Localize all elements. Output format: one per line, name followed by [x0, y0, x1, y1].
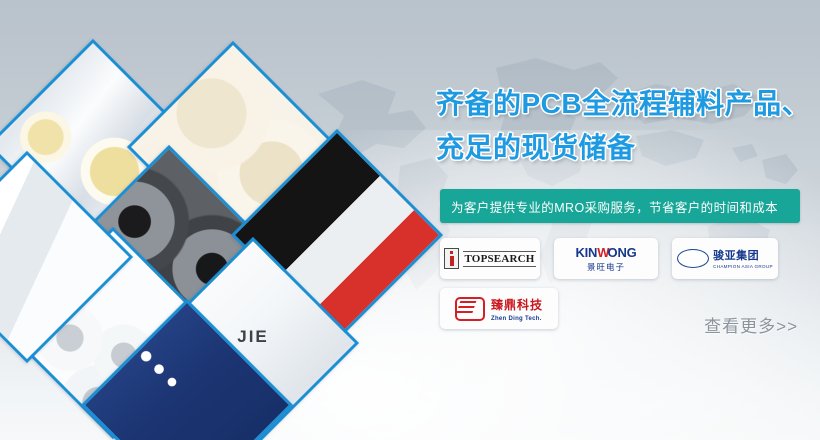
champion-asia-chinese-name: 骏亚集团 [713, 250, 759, 262]
product-tile-collage [0, 0, 430, 440]
partner-logo-champion-asia[interactable]: 骏亚集团 CHAMPION ASIA GROUP [672, 238, 778, 279]
topsearch-wordmark: TOPSEARCH [463, 251, 535, 267]
kinwong-wordmark-w: W [597, 245, 607, 260]
zhen-ding-english-name: Zhen Ding Tech. [491, 316, 543, 322]
banner-subtitle: 为客户提供专业的MRO采购服务，节省客户的时间和成本 [440, 197, 778, 216]
partner-logo-topsearch[interactable]: TOPSEARCH [440, 238, 540, 279]
banner-content: 齐备的PCB全流程辅料产品、 充足的现货储备 为客户提供专业的MRO采购服务，节… [430, 0, 820, 440]
kinwong-wordmark: KINWONG [575, 245, 636, 260]
promo-banner: 齐备的PCB全流程辅料产品、 充足的现货储备 为客户提供专业的MRO采购服务，节… [0, 0, 820, 440]
banner-headline: 齐备的PCB全流程辅料产品、 充足的现货储备 [436, 82, 820, 170]
topsearch-mark-icon [444, 248, 459, 269]
zhen-ding-mark-icon [455, 297, 485, 321]
partner-logo-kinwong[interactable]: KINWONG 景旺电子 [554, 238, 658, 279]
partner-logo-row: TOPSEARCH KINWONG 景旺电子 骏亚集团 [440, 238, 818, 279]
banner-subtitle-bar: 为客户提供专业的MRO采购服务，节省客户的时间和成本 [440, 189, 800, 223]
partner-logo-zhen-ding[interactable]: 臻鼎科技 Zhen Ding Tech. [440, 288, 558, 329]
kinwong-wordmark-left: KIN [575, 245, 597, 260]
champion-asia-english-name: CHAMPION ASIA GROUP [713, 265, 773, 270]
view-more-link[interactable]: 查看更多>> [704, 312, 798, 337]
kinwong-wordmark-right: ONG [608, 245, 637, 260]
zhen-ding-chinese-name: 臻鼎科技 [491, 298, 543, 312]
globe-icon [677, 249, 709, 268]
kinwong-chinese-name: 景旺电子 [575, 263, 636, 272]
